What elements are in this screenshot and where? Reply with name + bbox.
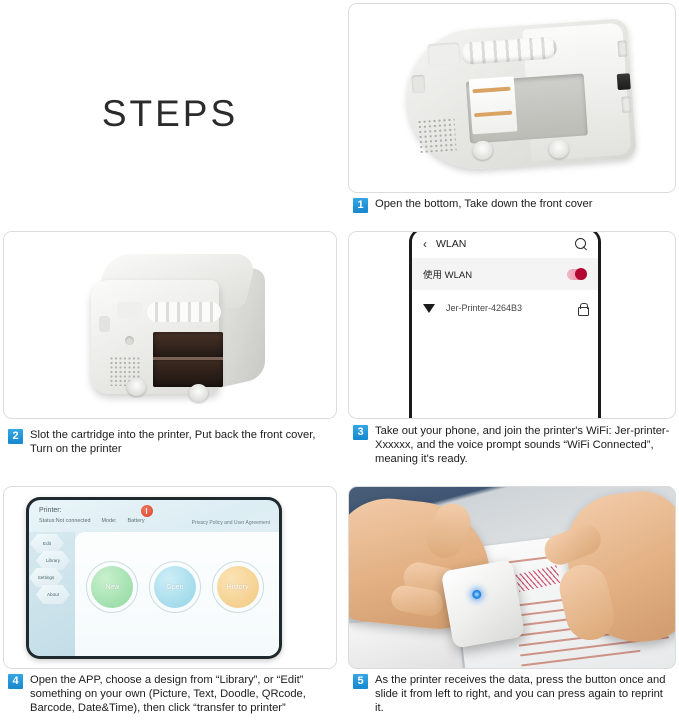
sidebar-item-edit[interactable]: Edit — [30, 534, 64, 553]
wlan-network-row[interactable]: Jer-Printer-4264B3 — [412, 290, 598, 326]
phone-device: ‹ WLAN 使用 WLAN Jer-Printer-4264B3 — [409, 231, 601, 419]
step-4-image-frame: Printer: Privacy Policy and User Agreeme… — [3, 486, 337, 669]
signature-mark — [515, 565, 560, 592]
step-caption-text: Slot the cartridge into the printer, Put… — [30, 428, 334, 456]
printer-roller — [147, 302, 221, 322]
printing-scene-photo — [349, 487, 675, 668]
step-2-caption: 2 Slot the cartridge into the printer, P… — [8, 428, 334, 456]
new-button[interactable]: New — [91, 566, 133, 608]
wlan-title: WLAN — [436, 238, 566, 250]
printer-cartridge-window — [153, 332, 223, 387]
app-top-bar: Printer: Privacy Policy and User Agreeme… — [29, 500, 279, 526]
app-mode-text: Mode: — [102, 518, 117, 524]
app-status-text: Status:Not connected — [39, 518, 91, 524]
wlan-toggle-switch[interactable] — [567, 269, 587, 280]
chevron-left-icon[interactable]: ‹ — [423, 238, 427, 250]
printer-device-bottom — [402, 18, 636, 173]
app-printer-label: Printer: — [39, 507, 269, 514]
wlan-toggle-label: 使用 WLAN — [423, 267, 472, 281]
step-5-cell: 5 As the printer receives the data, pres… — [345, 483, 679, 726]
printer-device-front — [79, 254, 269, 402]
phone-wlan-photo: ‹ WLAN 使用 WLAN Jer-Printer-4264B3 — [349, 232, 675, 418]
step-2-image-frame — [3, 231, 337, 419]
step-1-caption: 1 Open the bottom, Take down the front c… — [353, 197, 673, 213]
search-icon[interactable] — [575, 238, 587, 250]
step-number-badge: 3 — [353, 425, 368, 440]
printer-bottom-photo — [349, 4, 675, 192]
page-title: STEPS — [102, 93, 238, 135]
step-number-badge: 4 — [8, 674, 23, 689]
app-main-area: New Open History — [75, 532, 279, 656]
app-body: Edit Library Settings About New Open His… — [29, 532, 279, 656]
printer-tab — [427, 42, 460, 66]
wlan-enable-row[interactable]: 使用 WLAN — [412, 258, 598, 290]
printer-port — [621, 96, 631, 113]
printer-speaker-grille — [416, 117, 456, 154]
step-number-badge: 5 — [353, 674, 368, 689]
led-indicator-icon — [472, 589, 482, 599]
step-3-cell: ‹ WLAN 使用 WLAN Jer-Printer-4264B3 — [345, 228, 679, 478]
contact-strip — [474, 111, 512, 118]
handheld-printer — [441, 559, 525, 648]
step-1-image-frame — [348, 3, 676, 193]
sidebar-item-library[interactable]: Library — [36, 551, 70, 570]
printer-slider-switch — [411, 75, 425, 94]
app-phone-device: Printer: Privacy Policy and User Agreeme… — [26, 497, 282, 659]
wlan-app-bar: ‹ WLAN — [412, 231, 598, 258]
printer-tab — [117, 302, 143, 319]
printer-cavity-inner — [469, 76, 518, 134]
steps-instruction-sheet: STEPS — [0, 0, 679, 726]
step-2-cell: 2 Slot the cartridge into the printer, P… — [0, 228, 340, 478]
history-button[interactable]: History — [217, 566, 259, 608]
app-battery-text: Battery — [128, 518, 145, 524]
contact-strip — [472, 87, 510, 94]
step-number-badge: 2 — [8, 429, 23, 444]
printer-front-photo — [4, 232, 336, 418]
app-sidebar: Edit Library Settings About — [29, 532, 75, 656]
privacy-policy-link[interactable]: Privacy Policy and User Agreement — [192, 520, 270, 526]
step-4-caption: 4 Open the APP, choose a design from “Li… — [8, 673, 334, 716]
wifi-icon — [423, 303, 436, 313]
wlan-ssid-label: Jer-Printer-4264B3 — [446, 303, 568, 313]
step-5-image-frame — [348, 486, 676, 669]
printer-slider-switch — [99, 316, 110, 332]
printer-port — [617, 40, 627, 57]
printer-indicator-dot — [125, 336, 134, 345]
sidebar-item-about[interactable]: About — [36, 585, 70, 604]
lock-icon — [578, 303, 587, 314]
app-screen: Printer: Privacy Policy and User Agreeme… — [29, 500, 279, 656]
step-3-image-frame: ‹ WLAN 使用 WLAN Jer-Printer-4264B3 — [348, 231, 676, 419]
step-number-badge: 1 — [353, 198, 368, 213]
title-cell: STEPS — [0, 0, 340, 228]
printer-dark-port — [617, 73, 631, 90]
step-3-caption: 3 Take out your phone, and join the prin… — [353, 424, 673, 467]
step-5-caption: 5 As the printer receives the data, pres… — [353, 673, 673, 716]
step-caption-text: As the printer receives the data, press … — [375, 673, 673, 716]
printer-screw — [189, 384, 208, 402]
step-caption-text: Take out your phone, and join the printe… — [375, 424, 673, 467]
phone-app-photo: Printer: Privacy Policy and User Agreeme… — [4, 487, 336, 668]
title-wrapper: STEPS — [0, 0, 340, 228]
printer-screw — [127, 378, 146, 396]
step-caption-text: Open the APP, choose a design from “Libr… — [30, 673, 334, 716]
sidebar-item-settings[interactable]: Settings — [29, 568, 63, 587]
open-button[interactable]: Open — [154, 566, 196, 608]
phone-screen: ‹ WLAN 使用 WLAN Jer-Printer-4264B3 — [412, 231, 598, 419]
printer-front-face — [91, 280, 219, 394]
step-1-cell: 1 Open the bottom, Take down the front c… — [345, 0, 679, 228]
power-icon[interactable] — [141, 505, 153, 517]
step-4-cell: Printer: Privacy Policy and User Agreeme… — [0, 483, 340, 726]
step-caption-text: Open the bottom, Take down the front cov… — [375, 197, 592, 211]
